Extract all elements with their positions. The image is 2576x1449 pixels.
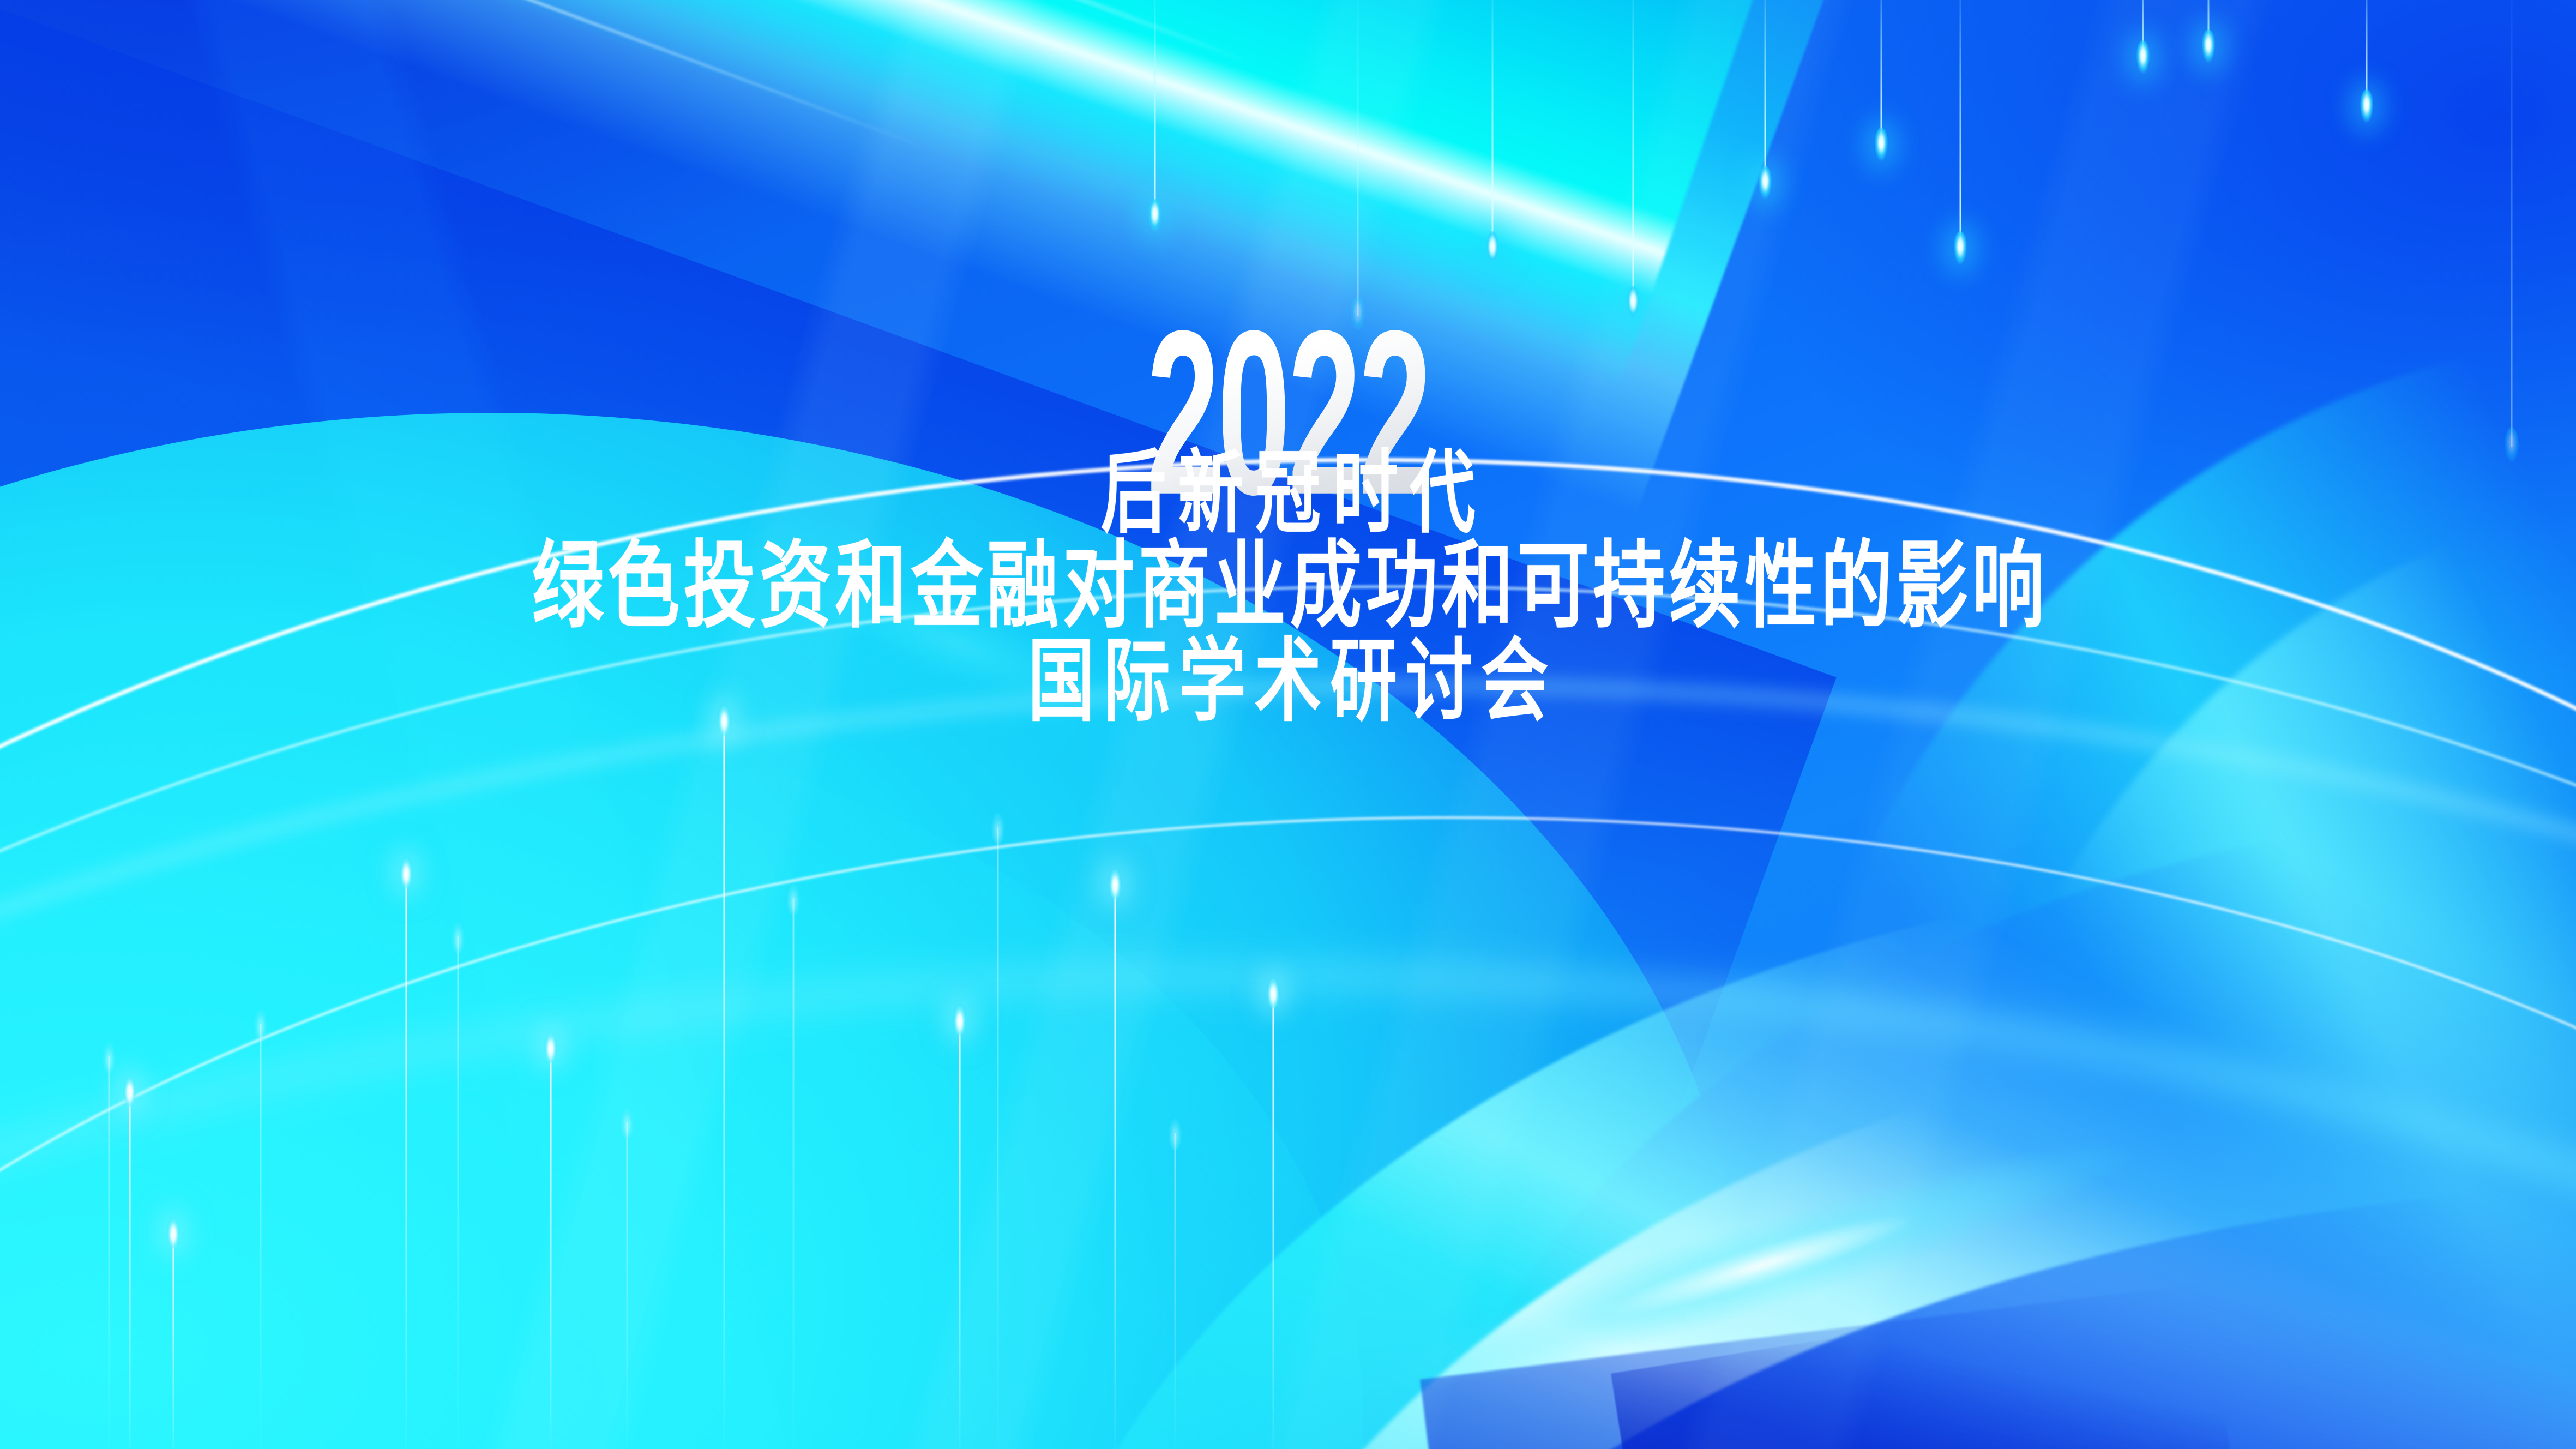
- streak-tail: [724, 718, 725, 1449]
- ribbon-blue-deep: [1314, 708, 2576, 1449]
- streak-tail: [1273, 991, 1274, 1449]
- streak-head-icon: [991, 813, 1004, 845]
- streak-tail: [793, 898, 795, 1449]
- title-line-2: 绿色投资和金融对商业成功和可持续性的影响: [528, 538, 2048, 635]
- streak-head-icon: [621, 1108, 634, 1139]
- streak-head-icon: [452, 922, 465, 954]
- title-line-1: 后新冠时代: [1089, 447, 1486, 539]
- streak-tail: [550, 1045, 552, 1449]
- streak-tail: [959, 1018, 961, 1449]
- streak-head-icon: [544, 1031, 557, 1063]
- streak-tail: [458, 936, 459, 1449]
- streak-tail: [1115, 882, 1116, 1449]
- streak-head-icon: [167, 1217, 180, 1248]
- streak-head-icon: [254, 1009, 267, 1041]
- streak-head-icon: [123, 1075, 136, 1107]
- streak-tail: [173, 1231, 174, 1449]
- arc-lens-flare-icon: [1357, 1101, 2166, 1429]
- arc-glow-wide: [0, 920, 2576, 1449]
- streak-tail: [129, 1089, 131, 1449]
- ribbon-pale: [1067, 837, 2576, 1449]
- title-line-3: 国际学术研讨会: [1019, 635, 1557, 727]
- streak-head-icon: [1109, 868, 1122, 899]
- streak-head-icon: [1267, 977, 1280, 1008]
- ribbon-cyan-main: [907, 724, 2576, 1449]
- poster-text-block: 2022 后新冠时代 绿色投资和金融对商业成功和可持续性的影响 国际学术研讨会: [0, 0, 2576, 716]
- conference-poster: 2022 后新冠时代 绿色投资和金融对商业成功和可持续性的影响 国际学术研讨会: [0, 0, 2576, 1449]
- streak-tail: [260, 1024, 262, 1449]
- streak-head-icon: [1169, 1119, 1182, 1150]
- corner-shade: [1420, 1220, 2576, 1449]
- title-stack: 后新冠时代 绿色投资和金融对商业成功和可持续性的影响 国际学术研讨会: [528, 459, 2048, 717]
- ribbon-blue-lower: [1270, 1103, 2576, 1449]
- streak-tail: [1175, 1133, 1176, 1449]
- streak-tail: [627, 1122, 628, 1449]
- streak-head-icon: [787, 884, 800, 916]
- streak-head-icon: [103, 1042, 116, 1074]
- cyan-glow-core: [0, 713, 1363, 1449]
- arc-tertiary: [0, 754, 2576, 1449]
- streak-head-icon: [953, 1004, 966, 1036]
- streak-tail: [406, 871, 407, 1449]
- streak-tail: [997, 827, 999, 1449]
- streak-tail: [109, 1056, 110, 1449]
- streak-head-icon: [400, 857, 413, 888]
- corner-wedge-deep: [1611, 1280, 2239, 1449]
